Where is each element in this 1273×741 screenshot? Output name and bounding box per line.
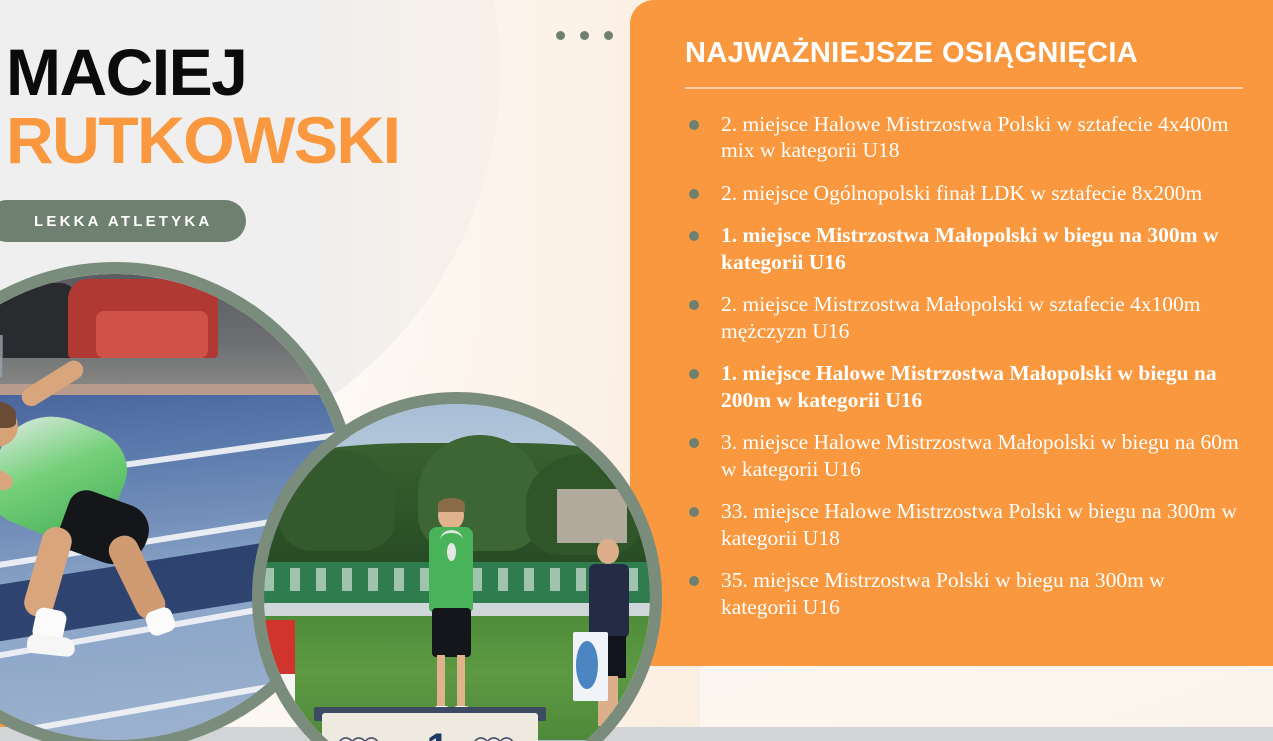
bullet-icon [689,300,699,310]
athlete-last-name: RUTKOWSKI [6,106,399,174]
list-item: 1. miejsce Halowe Mistrzostwa Małopolski… [685,360,1243,413]
list-item-text: 2. miejsce Ogólnopolski finał LDK w szta… [721,181,1202,205]
rings-glyph: ◯◯◯ [465,736,519,741]
discipline-badge-label: LEKKA ATLETYKA [34,213,212,230]
list-item-text: 1. miejsce Mistrzostwa Małopolski w bieg… [721,223,1218,274]
podium-second-athlete [584,539,634,732]
list-item-text: 33. miejsce Halowe Mistrzostwa Polski w … [721,499,1237,550]
panel-divider [685,87,1243,89]
bullet-icon [689,120,699,130]
dot-icon [580,31,589,40]
podium-winner-athlete [422,501,480,725]
podium-scene: ◯◯◯ OLYMPIC DAY 1 ◯◯◯ OLYMPIC DAY [264,404,650,741]
list-item: 35. miejsce Mistrzostwa Polski w biegu n… [685,567,1243,620]
olympic-rings-icon-left: ◯◯◯ OLYMPIC DAY [330,736,384,741]
list-item: 2. miejsce Halowe Mistrzostwa Polski w s… [685,111,1243,164]
list-item: 2. miejsce Mistrzostwa Małopolski w szta… [685,291,1243,344]
bullet-icon [689,507,699,517]
list-item-text: 3. miejsce Halowe Mistrzostwa Małopolski… [721,430,1239,481]
list-item: 33. miejsce Halowe Mistrzostwa Polski w … [685,498,1243,551]
list-item-text: 35. miejsce Mistrzostwa Polski w biegu n… [721,568,1165,619]
photo-podium: ◯◯◯ OLYMPIC DAY 1 ◯◯◯ OLYMPIC DAY [252,392,662,741]
bullet-icon [689,369,699,379]
podium-place-number: 1 [415,728,461,741]
list-item-text: 1. miejsce Halowe Mistrzostwa Małopolski… [721,361,1217,412]
achievements-list: 2. miejsce Halowe Mistrzostwa Polski w s… [685,111,1243,621]
list-item: 2. miejsce Ogólnopolski finał LDK w szta… [685,180,1243,207]
dot-icon [604,31,613,40]
athlete-name-block: MACIEJ RUTKOWSKI [6,38,399,174]
list-item-text: 2. miejsce Halowe Mistrzostwa Polski w s… [721,112,1229,163]
list-item-text: 2. miejsce Mistrzostwa Małopolski w szta… [721,292,1200,343]
bullet-icon [689,438,699,448]
athlete-first-name: MACIEJ [6,38,399,106]
bullet-icon [689,576,699,586]
bullet-icon [689,189,699,199]
discipline-badge: LEKKA ATLETYKA [0,200,246,242]
bullet-icon [689,231,699,241]
list-item: 1. miejsce Mistrzostwa Małopolski w bieg… [685,222,1243,275]
photo-podium-image: ◯◯◯ OLYMPIC DAY 1 ◯◯◯ OLYMPIC DAY [264,404,650,741]
olympic-rings-icon-right: ◯◯◯ OLYMPIC DAY [465,736,519,741]
rings-glyph: ◯◯◯ [330,736,384,741]
poster-canvas: MACIEJ RUTKOWSKI LEKKA ATLETYKA [0,0,1273,741]
dot-icon [556,31,565,40]
panel-title: NAJWAŻNIEJSZE OSIĄGNIĘCIA [685,36,1243,71]
decorative-dots [556,31,613,40]
list-item: 3. miejsce Halowe Mistrzostwa Małopolski… [685,429,1243,482]
achievements-panel: NAJWAŻNIEJSZE OSIĄGNIĘCIA 2. miejsce Hal… [630,0,1273,666]
